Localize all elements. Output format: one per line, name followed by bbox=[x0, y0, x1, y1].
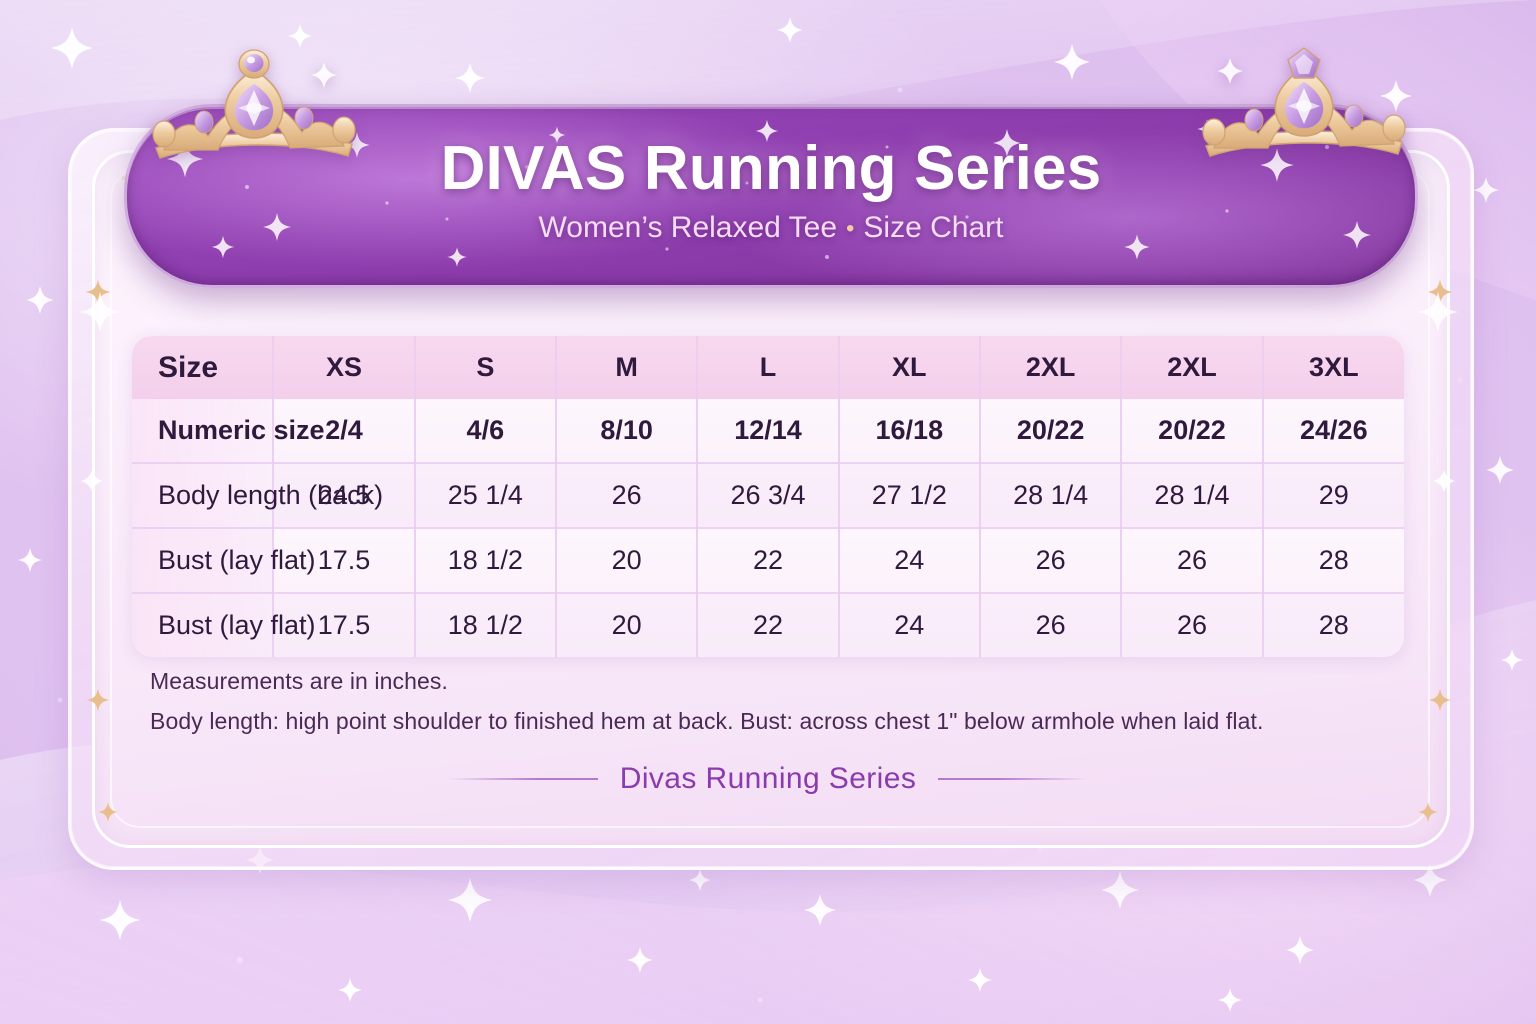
row-label-bust-b: Bust (lay flat) bbox=[132, 593, 273, 657]
cell-numeric-xl: 16/18 bbox=[839, 399, 980, 463]
cell-bodylength-2xl-a: 28 1/4 bbox=[980, 463, 1121, 528]
cell-numeric-l: 12/14 bbox=[697, 399, 838, 463]
cell-bust-a-xl: 24 bbox=[839, 528, 980, 593]
column-header-xs: XS bbox=[273, 336, 414, 399]
cell-bust-a-s: 18 1/2 bbox=[415, 528, 556, 593]
column-header-m: M bbox=[556, 336, 697, 399]
column-header-2xl-a: 2XL bbox=[980, 336, 1121, 399]
size-chart-table: Size XS S M L XL 2XL 2XL 3XL Numeric siz… bbox=[132, 336, 1404, 657]
column-header-2xl-b: 2XL bbox=[1121, 336, 1262, 399]
cell-bust-a-l: 22 bbox=[697, 528, 838, 593]
cell-bust-b-l: 22 bbox=[697, 593, 838, 657]
measurement-notes: Measurements are in inches. Body length:… bbox=[150, 668, 1400, 748]
cell-bodylength-l: 26 3/4 bbox=[697, 463, 838, 528]
bullet-separator-icon: • bbox=[846, 215, 854, 242]
row-label-body-length: Body length (back) bbox=[132, 463, 273, 528]
column-header-3xl: 3XL bbox=[1263, 336, 1404, 399]
cell-bust-a-2xl-b: 26 bbox=[1121, 528, 1262, 593]
cell-bodylength-3xl: 29 bbox=[1263, 463, 1404, 528]
page-title: DIVAS Running Series bbox=[127, 133, 1415, 204]
brand-footer: Divas Running Series bbox=[132, 762, 1404, 796]
cell-numeric-s: 4/6 bbox=[415, 399, 556, 463]
column-header-s: S bbox=[415, 336, 556, 399]
cell-bodylength-xl: 27 1/2 bbox=[839, 463, 980, 528]
row-label-bust-a: Bust (lay flat) bbox=[132, 528, 273, 593]
table-row: Bust (lay flat) 17.5 18 1/2 20 22 24 26 … bbox=[132, 593, 1404, 657]
cell-bust-b-m: 20 bbox=[556, 593, 697, 657]
row-label-numeric-size: Numeric size bbox=[132, 399, 273, 463]
cell-bust-b-3xl: 28 bbox=[1263, 593, 1404, 657]
cell-numeric-2xl-a: 20/22 bbox=[980, 399, 1121, 463]
size-chart-table-container: Size XS S M L XL 2XL 2XL 3XL Numeric siz… bbox=[132, 336, 1404, 657]
table-row: Numeric size 2/4 4/6 8/10 12/14 16/18 20… bbox=[132, 399, 1404, 463]
subtitle-garment: Women’s Relaxed Tee bbox=[539, 211, 838, 244]
cell-bust-a-2xl-a: 26 bbox=[980, 528, 1121, 593]
cell-bust-a-m: 20 bbox=[556, 528, 697, 593]
cell-numeric-3xl: 24/26 bbox=[1263, 399, 1404, 463]
table-header-row: Size XS S M L XL 2XL 2XL 3XL bbox=[132, 336, 1404, 399]
subtitle-doctype: Size Chart bbox=[863, 211, 1003, 244]
cell-numeric-m: 8/10 bbox=[556, 399, 697, 463]
cell-bodylength-s: 25 1/4 bbox=[415, 463, 556, 528]
column-header-xl: XL bbox=[839, 336, 980, 399]
table-body: Numeric size 2/4 4/6 8/10 12/14 16/18 20… bbox=[132, 399, 1404, 657]
divider-left bbox=[448, 778, 598, 780]
column-header-l: L bbox=[697, 336, 838, 399]
column-header-size: Size bbox=[132, 336, 273, 399]
cell-bust-a-3xl: 28 bbox=[1263, 528, 1404, 593]
cell-bodylength-m: 26 bbox=[556, 463, 697, 528]
divider-right bbox=[938, 778, 1088, 780]
page-subtitle: Women’s Relaxed Tee•Size Chart bbox=[127, 211, 1415, 245]
cell-bust-b-xl: 24 bbox=[839, 593, 980, 657]
title-banner: DIVAS Running Series Women’s Relaxed Tee… bbox=[124, 104, 1418, 288]
table-head: Size XS S M L XL 2XL 2XL 3XL bbox=[132, 336, 1404, 399]
note-units: Measurements are in inches. bbox=[150, 668, 1400, 695]
cell-numeric-2xl-b: 20/22 bbox=[1121, 399, 1262, 463]
cell-bust-b-2xl-b: 26 bbox=[1121, 593, 1262, 657]
cell-bodylength-2xl-b: 28 1/4 bbox=[1121, 463, 1262, 528]
note-method: Body length: high point shoulder to fini… bbox=[150, 708, 1400, 735]
cell-bust-b-2xl-a: 26 bbox=[980, 593, 1121, 657]
cell-bust-b-s: 18 1/2 bbox=[415, 593, 556, 657]
size-chart-poster: DIVAS Running Series Women’s Relaxed Tee… bbox=[0, 0, 1536, 1024]
table-row: Body length (back) 24.5 25 1/4 26 26 3/4… bbox=[132, 463, 1404, 528]
brand-name: Divas Running Series bbox=[620, 762, 916, 796]
table-row: Bust (lay flat) 17.5 18 1/2 20 22 24 26 … bbox=[132, 528, 1404, 593]
